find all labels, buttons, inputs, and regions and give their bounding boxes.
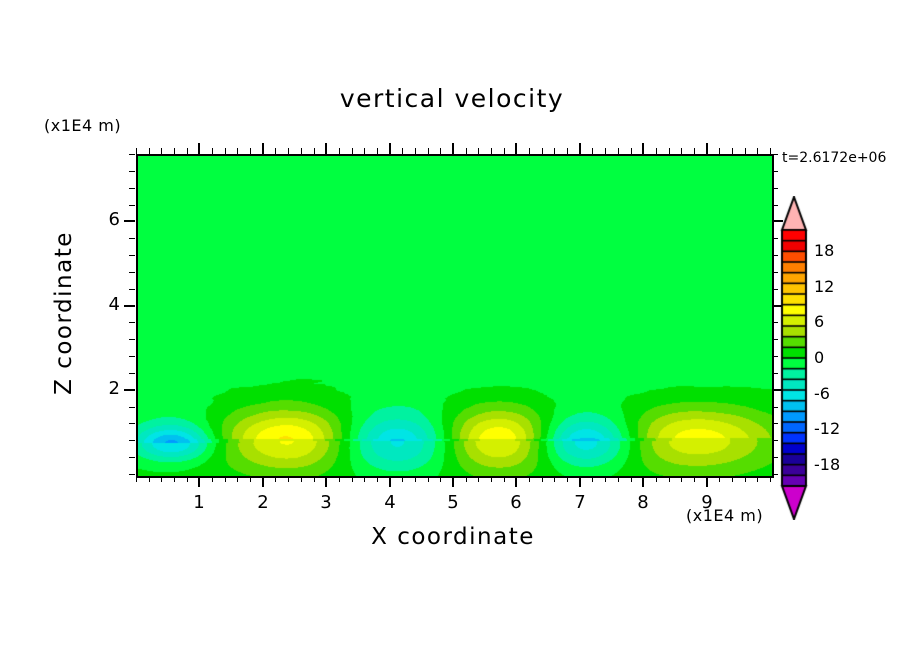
timestamp-label: t=2.6172e+06 — [782, 150, 886, 166]
y-minor-tick-right — [772, 154, 778, 155]
x-minor-tick-top — [212, 148, 213, 154]
x-tick-label: 4 — [370, 492, 410, 513]
x-major-tick — [325, 476, 327, 487]
x-major-tick — [198, 476, 200, 487]
colorbar-tick-label: -12 — [814, 419, 840, 438]
x-minor-tick-top — [757, 148, 758, 154]
x-minor-tick — [339, 476, 340, 482]
y-minor-tick — [129, 373, 135, 374]
colorbar-tick-label: 0 — [814, 348, 824, 367]
x-minor-tick-top — [631, 148, 632, 154]
x-minor-tick — [352, 476, 353, 482]
colorbar-gradient — [778, 196, 818, 520]
y-minor-tick — [129, 356, 135, 357]
x-minor-tick — [149, 476, 150, 482]
x-minor-tick — [440, 476, 441, 482]
x-minor-tick — [554, 476, 555, 482]
x-minor-tick-top — [669, 148, 670, 154]
x-minor-tick — [656, 476, 657, 482]
x-minor-tick — [567, 476, 568, 482]
y-axis-title: Z coordinate — [51, 213, 77, 413]
x-minor-tick-top — [250, 148, 251, 154]
x-minor-tick — [377, 476, 378, 482]
x-minor-tick-top — [719, 148, 720, 154]
y-minor-tick — [129, 188, 135, 189]
x-major-tick — [642, 476, 644, 487]
y-minor-tick — [129, 407, 135, 408]
x-minor-tick-top — [314, 148, 315, 154]
x-major-tick — [579, 476, 581, 487]
x-minor-tick-top — [567, 148, 568, 154]
y-tick-label: 4 — [90, 294, 120, 315]
x-minor-tick — [136, 476, 137, 482]
x-tick-label: 3 — [306, 492, 346, 513]
x-minor-tick-top — [542, 148, 543, 154]
x-minor-tick — [669, 476, 670, 482]
x-minor-tick — [757, 476, 758, 482]
x-major-tick-top — [389, 143, 391, 154]
y-minor-tick — [129, 255, 135, 256]
y-minor-tick-right — [772, 188, 778, 189]
x-major-tick — [706, 476, 708, 487]
x-minor-tick — [732, 476, 733, 482]
x-tick-label: 1 — [179, 492, 219, 513]
x-minor-tick — [504, 476, 505, 482]
x-tick-label: 9 — [687, 492, 727, 513]
x-tick-label: 7 — [560, 492, 600, 513]
x-major-tick — [515, 476, 517, 487]
colorbar: 181260-6-12-18 — [778, 196, 898, 520]
x-major-tick — [262, 476, 264, 487]
colorbar-tick-label: 6 — [814, 312, 824, 331]
x-minor-tick-top — [415, 148, 416, 154]
x-minor-tick-top — [656, 148, 657, 154]
x-minor-tick — [301, 476, 302, 482]
x-axis-title: X coordinate — [136, 524, 770, 550]
x-minor-tick-top — [745, 148, 746, 154]
y-minor-tick — [129, 154, 135, 155]
x-minor-tick — [719, 476, 720, 482]
y-major-tick — [124, 389, 135, 391]
x-minor-tick-top — [352, 148, 353, 154]
contour-plot-area — [136, 154, 774, 478]
x-minor-tick-top — [301, 148, 302, 154]
x-minor-tick — [478, 476, 479, 482]
x-minor-tick-top — [428, 148, 429, 154]
x-minor-tick — [275, 476, 276, 482]
x-minor-tick-top — [402, 148, 403, 154]
y-minor-tick — [129, 474, 135, 475]
y-tick-label: 6 — [90, 209, 120, 230]
x-minor-tick-top — [478, 148, 479, 154]
x-tick-label: 6 — [496, 492, 536, 513]
x-minor-tick — [428, 476, 429, 482]
x-minor-tick-top — [681, 148, 682, 154]
y-minor-tick — [129, 423, 135, 424]
x-minor-tick-top — [225, 148, 226, 154]
x-minor-tick-top — [605, 148, 606, 154]
x-minor-tick-top — [732, 148, 733, 154]
x-minor-tick — [529, 476, 530, 482]
x-minor-tick-top — [161, 148, 162, 154]
x-major-tick — [389, 476, 391, 487]
x-minor-tick-top — [275, 148, 276, 154]
x-minor-tick — [174, 476, 175, 482]
x-minor-tick — [694, 476, 695, 482]
x-minor-tick — [314, 476, 315, 482]
colorbar-tick-label: -6 — [814, 384, 830, 403]
y-axis-unit-label: (x1E4 m) — [44, 116, 121, 135]
x-minor-tick-top — [339, 148, 340, 154]
y-minor-tick — [129, 339, 135, 340]
x-minor-tick — [542, 476, 543, 482]
x-minor-tick — [364, 476, 365, 482]
x-minor-tick — [187, 476, 188, 482]
x-minor-tick — [770, 476, 771, 482]
x-minor-tick-top — [466, 148, 467, 154]
colorbar-tick-label: 18 — [814, 241, 834, 260]
y-minor-tick — [129, 289, 135, 290]
x-minor-tick-top — [592, 148, 593, 154]
x-minor-tick — [237, 476, 238, 482]
x-minor-tick-top — [694, 148, 695, 154]
x-tick-label: 2 — [243, 492, 283, 513]
x-major-tick-top — [198, 143, 200, 154]
y-minor-tick — [129, 171, 135, 172]
x-minor-tick-top — [504, 148, 505, 154]
x-minor-tick — [161, 476, 162, 482]
colorbar-tick-label: 12 — [814, 277, 834, 296]
x-major-tick-top — [452, 143, 454, 154]
x-minor-tick-top — [377, 148, 378, 154]
x-minor-tick-top — [149, 148, 150, 154]
x-minor-tick-top — [529, 148, 530, 154]
x-minor-tick — [631, 476, 632, 482]
x-minor-tick — [681, 476, 682, 482]
x-minor-tick — [466, 476, 467, 482]
x-minor-tick-top — [288, 148, 289, 154]
x-minor-tick — [402, 476, 403, 482]
x-major-tick-top — [579, 143, 581, 154]
y-minor-tick-right — [772, 171, 778, 172]
y-minor-tick — [129, 205, 135, 206]
x-minor-tick-top — [554, 148, 555, 154]
x-minor-tick — [288, 476, 289, 482]
colorbar-tick-label: -18 — [814, 455, 840, 474]
x-minor-tick-top — [187, 148, 188, 154]
x-minor-tick-top — [174, 148, 175, 154]
page-title: vertical velocity — [0, 84, 904, 113]
y-minor-tick — [129, 457, 135, 458]
y-minor-tick — [129, 272, 135, 273]
x-minor-tick-top — [491, 148, 492, 154]
x-minor-tick — [745, 476, 746, 482]
y-tick-label: 2 — [90, 378, 120, 399]
x-minor-tick — [212, 476, 213, 482]
x-minor-tick — [618, 476, 619, 482]
x-major-tick-top — [262, 143, 264, 154]
x-major-tick-top — [642, 143, 644, 154]
y-minor-tick — [129, 440, 135, 441]
x-minor-tick-top — [364, 148, 365, 154]
y-major-tick — [124, 220, 135, 222]
y-minor-tick — [129, 322, 135, 323]
x-minor-tick — [415, 476, 416, 482]
x-major-tick-top — [515, 143, 517, 154]
x-minor-tick — [592, 476, 593, 482]
x-minor-tick-top — [440, 148, 441, 154]
x-minor-tick-top — [136, 148, 137, 154]
x-minor-tick — [225, 476, 226, 482]
x-major-tick — [452, 476, 454, 487]
x-minor-tick-top — [770, 148, 771, 154]
contour-field — [138, 156, 772, 476]
x-minor-tick-top — [237, 148, 238, 154]
x-tick-label: 8 — [623, 492, 663, 513]
x-minor-tick-top — [618, 148, 619, 154]
x-minor-tick — [605, 476, 606, 482]
x-tick-label: 5 — [433, 492, 473, 513]
x-minor-tick — [491, 476, 492, 482]
x-minor-tick — [250, 476, 251, 482]
x-major-tick-top — [706, 143, 708, 154]
x-major-tick-top — [325, 143, 327, 154]
y-minor-tick — [129, 238, 135, 239]
y-major-tick — [124, 305, 135, 307]
